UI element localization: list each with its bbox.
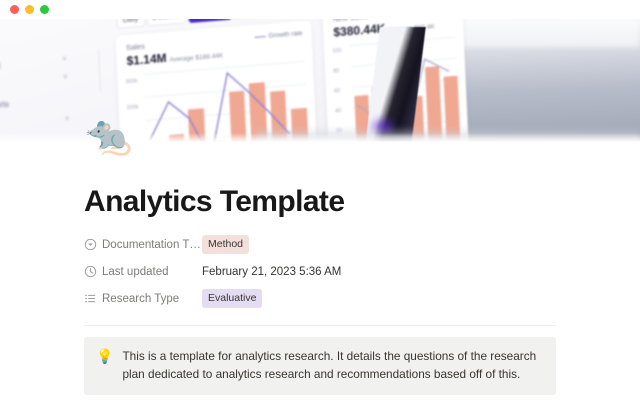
status-badge: Evaluative	[202, 289, 262, 308]
chevron-down-icon: ˅	[62, 56, 66, 63]
page-title[interactable]: Analytics Template	[84, 185, 344, 219]
cover-sidebar-item: c Reports	[0, 94, 69, 112]
content-divider	[84, 325, 556, 326]
legend-line-swatch	[255, 36, 266, 38]
property-row-documentation-type[interactable]: Documentation T… Method	[84, 231, 554, 258]
callout-block[interactable]: 💡 This is a template for analytics resea…	[84, 337, 556, 395]
status-badge: Method	[202, 235, 249, 254]
cover-card-sales-subvalue: Average $188.44K	[170, 52, 224, 63]
cover-card-sales: Sales $1.14MAverage $188.44K Growth rate…	[116, 20, 318, 143]
minimize-window-button[interactable]	[25, 5, 34, 14]
cover-card-sales-legend: Growth rate	[255, 30, 303, 41]
close-window-button[interactable]	[10, 5, 19, 14]
cover-sidebar-item-label: c Reports	[0, 99, 9, 112]
page-properties: Documentation T… Method Last updated Feb…	[84, 231, 554, 312]
cover-card-sales-ytick: 200k	[127, 104, 139, 111]
app-window: Catalog ˅ ˅ c Reports ngs ˅	[0, 0, 640, 400]
clock-icon	[84, 265, 102, 278]
cover-chip-6-months: 6 Months	[189, 19, 232, 23]
lightbulb-icon: 💡	[96, 348, 113, 383]
cover-chip-3-months: 3 Months	[146, 19, 187, 26]
cover-card-new-sales-ytick: 80	[333, 68, 339, 74]
property-value[interactable]: Method	[202, 235, 249, 254]
cover-chip-daily: Daily	[117, 19, 145, 29]
list-icon	[84, 292, 102, 305]
page-emoji-icon[interactable]: 🐀	[85, 117, 132, 155]
property-value[interactable]: Evaluative	[202, 289, 262, 308]
property-value[interactable]: February 21, 2023 5:36 AM	[202, 266, 341, 278]
cover-sidebar-item: Catalog ˅	[0, 54, 67, 72]
cover-dashboard-sidebar: Catalog ˅ ˅ c Reports ngs ˅	[0, 40, 95, 143]
cover-card-new-sales-ytick: 100	[332, 48, 341, 55]
cover-card-sales-legend-label: Growth rate	[268, 30, 302, 40]
page-body: 🐀 Analytics Template Documentation T… Me…	[0, 143, 640, 400]
callout-text: This is a template for analytics researc…	[122, 348, 542, 383]
property-row-research-type[interactable]: Research Type Evaluative	[84, 285, 554, 312]
cover-card-sales-title: Sales	[126, 42, 145, 53]
maximize-window-button[interactable]	[40, 5, 49, 14]
cover-sidebar-item: ˅	[0, 74, 68, 89]
select-circle-icon	[84, 238, 102, 251]
window-titlebar	[0, 0, 640, 19]
chevron-down-icon: ˅	[63, 74, 67, 81]
property-name: Last updated	[102, 266, 202, 278]
cover-card-new-sales-ytick: 60	[334, 88, 340, 94]
property-name: Documentation T…	[102, 239, 202, 251]
cover-sidebar-item: ngs ˅	[0, 114, 69, 132]
cover-card-sales-ytick: 300k	[125, 78, 137, 85]
property-name: Research Type	[102, 293, 202, 305]
chevron-down-icon: ˅	[65, 115, 69, 122]
property-row-last-updated[interactable]: Last updated February 21, 2023 5:36 AM	[84, 258, 554, 285]
cover-card-sales-value-text: $1.14M	[126, 51, 167, 68]
cover-sidebar-divider	[98, 49, 101, 91]
cover-card-new-sales-ytick: 40	[335, 108, 341, 114]
